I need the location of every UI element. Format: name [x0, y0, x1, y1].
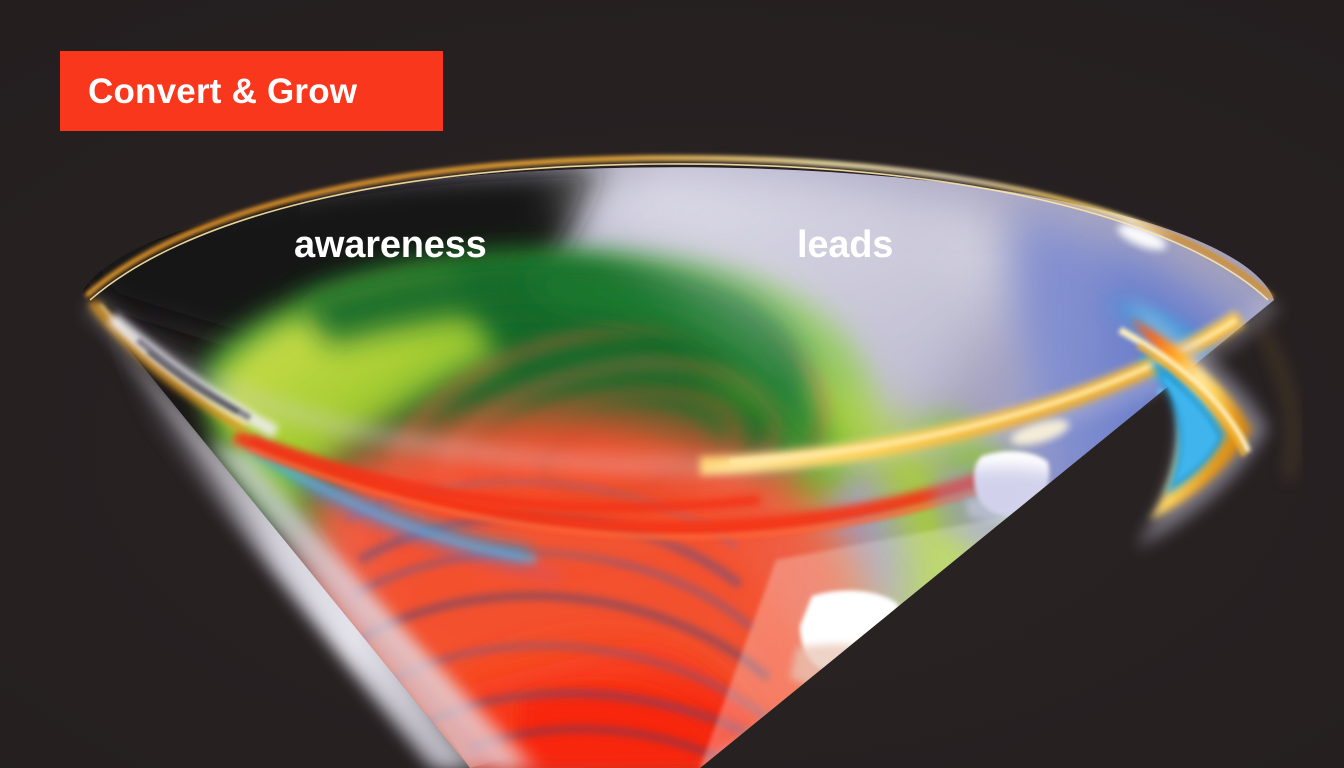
- label-leads: leads: [797, 226, 893, 264]
- headline-text: Convert & Grow: [88, 74, 357, 109]
- headline-banner: Convert & Grow: [60, 51, 443, 131]
- poster-canvas: awareness leads Convert & Grow: [0, 0, 1344, 768]
- label-awareness: awareness: [294, 226, 487, 264]
